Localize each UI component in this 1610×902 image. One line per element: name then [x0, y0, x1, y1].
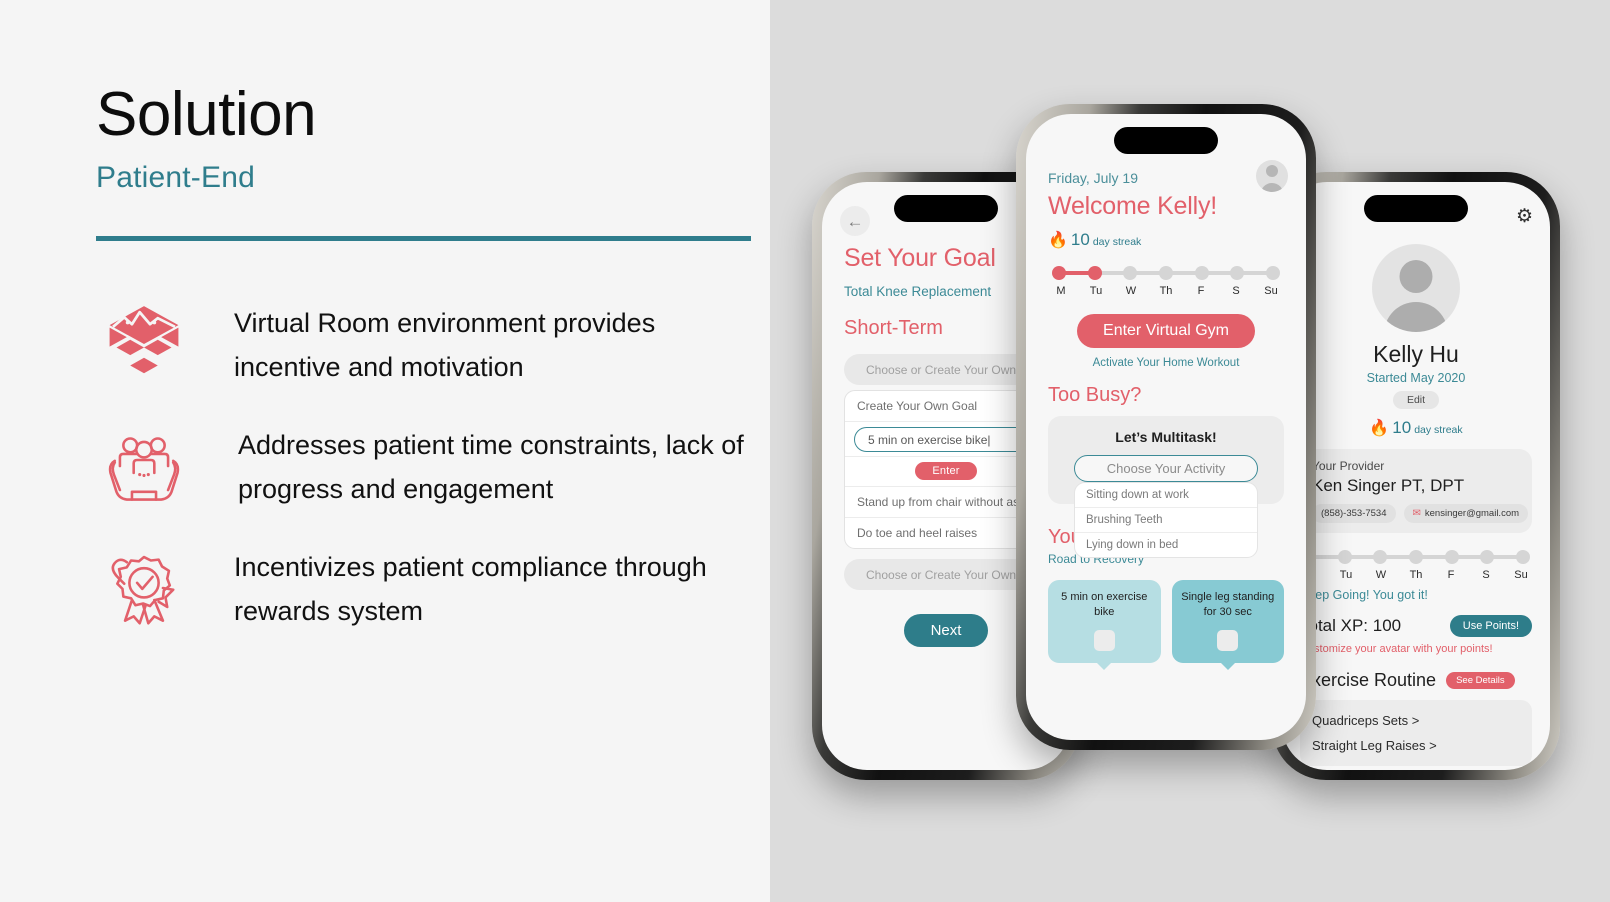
streak-count: 10	[1392, 418, 1411, 438]
back-arrow-icon[interactable]: ←	[840, 206, 870, 236]
goal-text-input[interactable]: 5 min on exercise bike|	[854, 427, 1038, 452]
week-dot[interactable]	[1480, 550, 1494, 564]
tile-pointer	[1095, 661, 1113, 670]
left-content-panel: Solution Patient-End	[0, 0, 770, 902]
avatar-shoulders	[1261, 183, 1284, 192]
flame-icon: 🔥	[1369, 421, 1389, 437]
award-badge-check-icon	[96, 540, 192, 636]
encouragement-text: Keep Going! You got it!	[1300, 588, 1532, 602]
week-dot[interactable]	[1088, 266, 1102, 280]
bullet-text: Virtual Room environment provides incent…	[192, 296, 756, 389]
home-workout-link[interactable]: Activate Your Home Workout	[1048, 357, 1284, 369]
exercise-checkbox[interactable]	[1217, 630, 1238, 651]
provider-name: Ken Singer PT, DPT	[1312, 476, 1520, 496]
provider-phone-pill[interactable]: (858)-353-7534	[1312, 504, 1396, 523]
weekly-streak-track: M Tu W Th F S Su	[1048, 265, 1284, 297]
current-date: Friday, July 19	[1048, 170, 1284, 186]
exercise-tile-label: Single leg standing for 30 sec	[1178, 590, 1279, 620]
week-day-labels: M Tu W Th F S Su	[1302, 569, 1530, 581]
enter-virtual-gym-button[interactable]: Enter Virtual Gym	[1077, 314, 1255, 348]
streak-count: 10	[1071, 230, 1090, 250]
phone-mockup-home: Friday, July 19 Welcome Kelly! 🔥 10 day …	[1016, 104, 1316, 750]
edit-button-wrap: Edit	[1300, 391, 1532, 409]
avatar-head	[1400, 260, 1433, 293]
bullet-text: Addresses patient time constraints, lack…	[192, 418, 756, 511]
week-dot[interactable]	[1266, 266, 1280, 280]
activity-dropdown[interactable]: Choose Your Activity	[1074, 455, 1258, 482]
week-day: F	[1443, 569, 1459, 581]
week-dot[interactable]	[1159, 266, 1173, 280]
week-dot[interactable]	[1409, 550, 1423, 564]
week-day: Su	[1513, 569, 1529, 581]
too-busy-heading: Too Busy?	[1048, 384, 1284, 407]
avatar-head	[1266, 165, 1278, 177]
week-day: Tu	[1338, 569, 1354, 581]
week-day: S	[1478, 569, 1494, 581]
week-dot[interactable]	[1516, 550, 1530, 564]
exercise-checkbox[interactable]	[1094, 630, 1115, 651]
exercise-item[interactable]: Straight Leg Raises >	[1312, 733, 1520, 758]
xp-row: Total XP: 100 Use Points!	[1300, 615, 1532, 637]
flame-icon: 🔥	[1048, 233, 1068, 249]
streak-indicator: 🔥 10 day streak	[1300, 418, 1532, 438]
hands-holding-people-icon	[96, 418, 192, 514]
bullet-item: Incentivizes patient compliance through …	[96, 540, 756, 636]
activity-options-list: Sitting down at work Brushing Teeth Lyin…	[1074, 482, 1258, 558]
provider-card: Your Provider Ken Singer PT, DPT (858)-3…	[1300, 449, 1532, 533]
slide-root: Solution Patient-End	[0, 0, 1610, 902]
virtual-gym-button-wrap: Enter Virtual Gym	[1048, 314, 1284, 348]
customize-note: Customize your avatar with your points!	[1300, 643, 1532, 655]
week-day: S	[1228, 285, 1244, 297]
home-screen: Friday, July 19 Welcome Kelly! 🔥 10 day …	[1026, 114, 1306, 740]
title-divider	[96, 236, 751, 241]
profile-started: Started May 2020	[1300, 371, 1532, 385]
bullet-list: Virtual Room environment provides incent…	[96, 296, 756, 662]
streak-label: day streak	[1093, 236, 1141, 248]
exercise-tiles: 5 min on exercise bike Single leg standi…	[1048, 580, 1284, 663]
profile-body: Kelly Hu Started May 2020 Edit 🔥 10 day …	[1282, 182, 1550, 766]
welcome-heading: Welcome Kelly!	[1048, 192, 1284, 221]
provider-email: kensinger@gmail.com	[1425, 508, 1519, 519]
page-title: Solution	[96, 82, 756, 147]
provider-phone: (858)-353-7534	[1321, 508, 1387, 519]
multitask-card: Let’s Multitask! Choose Your Activity Si…	[1048, 416, 1284, 504]
avatar-shoulders	[1384, 302, 1448, 332]
activity-option[interactable]: Sitting down at work	[1075, 483, 1257, 508]
tile-pointer	[1219, 661, 1237, 670]
exercise-tile[interactable]: Single leg standing for 30 sec	[1172, 580, 1285, 663]
week-dot[interactable]	[1230, 266, 1244, 280]
profile-screen: ⚙ Kelly Hu Started May 2020 Edit 🔥 10 d	[1282, 182, 1550, 770]
week-day: W	[1123, 285, 1139, 297]
edit-button[interactable]: Edit	[1393, 391, 1439, 409]
dynamic-island	[894, 195, 998, 222]
exercise-routine-header: Exercise Routine See Details	[1300, 670, 1532, 691]
title-block: Solution Patient-End	[96, 82, 756, 195]
exercise-routine-list: Quadriceps Sets > Straight Leg Raises >	[1300, 700, 1532, 766]
week-day: M	[1053, 285, 1069, 297]
week-day: Th	[1408, 569, 1424, 581]
bullet-item: Addresses patient time constraints, lack…	[96, 418, 756, 514]
bullet-text: Incentivizes patient compliance through …	[192, 540, 756, 633]
exercise-tile[interactable]: 5 min on exercise bike	[1048, 580, 1161, 663]
provider-email-pill[interactable]: ✉ kensinger@gmail.com	[1404, 504, 1529, 523]
week-dot[interactable]	[1123, 266, 1137, 280]
activity-option[interactable]: Lying down in bed	[1075, 533, 1257, 557]
week-dot[interactable]	[1445, 550, 1459, 564]
page-subtitle: Patient-End	[96, 161, 756, 195]
provider-contact-row: (858)-353-7534 ✉ kensinger@gmail.com	[1312, 504, 1520, 523]
week-day: Tu	[1088, 285, 1104, 297]
week-dot[interactable]	[1338, 550, 1352, 564]
enter-button[interactable]: Enter	[915, 462, 976, 480]
week-day-labels: M Tu W Th F S Su	[1052, 285, 1280, 297]
week-dot[interactable]	[1195, 266, 1209, 280]
use-points-button[interactable]: Use Points!	[1450, 615, 1532, 637]
dynamic-island	[1364, 195, 1468, 222]
multitask-title: Let’s Multitask!	[1062, 429, 1270, 445]
exercise-routine-title: Exercise Routine	[1300, 670, 1436, 691]
avatar[interactable]	[1256, 160, 1288, 192]
weekly-streak-track: M Tu W Th F S Su	[1300, 549, 1532, 581]
streak-indicator: 🔥 10 day streak	[1048, 230, 1284, 250]
activity-option[interactable]: Brushing Teeth	[1075, 508, 1257, 533]
see-details-button[interactable]: See Details	[1446, 672, 1515, 689]
profile-name: Kelly Hu	[1300, 341, 1532, 368]
provider-label: Your Provider	[1312, 459, 1520, 473]
week-dot[interactable]	[1052, 266, 1066, 280]
avatar[interactable]	[1372, 244, 1460, 332]
mail-icon: ✉	[1413, 508, 1421, 519]
bullet-item: Virtual Room environment provides incent…	[96, 296, 756, 392]
home-body: Friday, July 19 Welcome Kelly! 🔥 10 day …	[1026, 114, 1306, 663]
week-dots	[1302, 549, 1530, 565]
week-day: F	[1193, 285, 1209, 297]
mockup-panel: ← Set Your Goal Total Knee Replacement S…	[770, 0, 1610, 902]
week-day: W	[1373, 569, 1389, 581]
week-dots	[1052, 265, 1280, 281]
week-day: Su	[1263, 285, 1279, 297]
next-button[interactable]: Next	[904, 614, 989, 647]
week-dot[interactable]	[1373, 550, 1387, 564]
week-day: Th	[1158, 285, 1174, 297]
dynamic-island	[1114, 127, 1218, 154]
exercise-tile-label: 5 min on exercise bike	[1054, 590, 1155, 620]
streak-label: day streak	[1414, 424, 1462, 436]
mountain-cube-icon	[96, 296, 192, 392]
exercise-item[interactable]: Quadriceps Sets >	[1312, 708, 1520, 733]
